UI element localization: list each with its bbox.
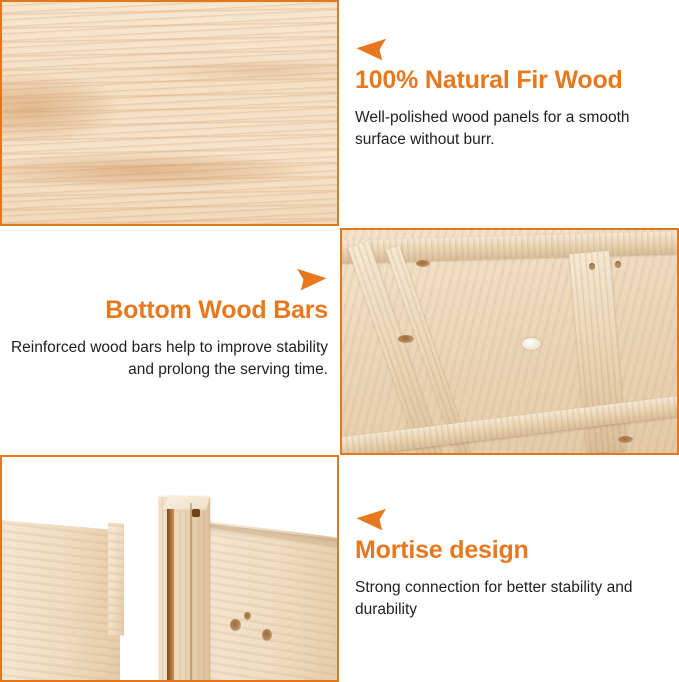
arrow-right-icon xyxy=(294,268,328,292)
mortise-post xyxy=(158,497,210,682)
screw-hole xyxy=(589,263,595,270)
screw-hole xyxy=(615,261,621,268)
underside-surface-texture xyxy=(342,230,677,453)
feature-text-bottom-wood-bars: Bottom Wood Bars Reinforced wood bars he… xyxy=(10,268,328,438)
feature-text-natural-fir-wood: 100% Natural Fir Wood Well-polished wood… xyxy=(355,38,673,208)
wood-plug xyxy=(522,338,541,350)
wood-grain-texture xyxy=(2,2,337,224)
feature-heading: Mortise design xyxy=(355,536,529,565)
arrow-left-icon xyxy=(355,38,389,62)
feature-body-text: Reinforced wood bars help to improve sta… xyxy=(10,337,328,382)
feature-body-text: Strong connection for better stability a… xyxy=(355,577,673,622)
wood-knot xyxy=(416,260,430,267)
wood-knot xyxy=(230,619,241,631)
feature-photo-bottom-wood-bars xyxy=(340,228,679,455)
product-feature-infographic: 100% Natural Fir Wood Well-polished wood… xyxy=(0,0,679,682)
wood-knot xyxy=(262,629,272,641)
feature-photo-mortise-design xyxy=(0,455,339,682)
feature-body-text: Well-polished wood panels for a smooth s… xyxy=(355,107,673,152)
wood-bar-bottom-rail xyxy=(340,394,679,455)
mortise-scene xyxy=(2,457,337,680)
feature-text-mortise-design: Mortise design Strong connection for bet… xyxy=(355,508,673,678)
wood-tenon-tongue-visible xyxy=(108,522,124,635)
feature-heading: Bottom Wood Bars xyxy=(105,296,328,325)
wood-knot xyxy=(618,436,633,443)
mortise-groove xyxy=(167,509,174,682)
feature-heading: 100% Natural Fir Wood xyxy=(355,66,623,95)
wood-knot xyxy=(244,612,251,620)
arrow-left-icon xyxy=(355,508,389,532)
post-edge-line xyxy=(190,503,192,682)
background-gap xyxy=(122,457,158,682)
wood-knot xyxy=(398,335,414,343)
mortise-hole xyxy=(192,509,200,517)
feature-photo-natural-fir-wood xyxy=(0,0,339,226)
